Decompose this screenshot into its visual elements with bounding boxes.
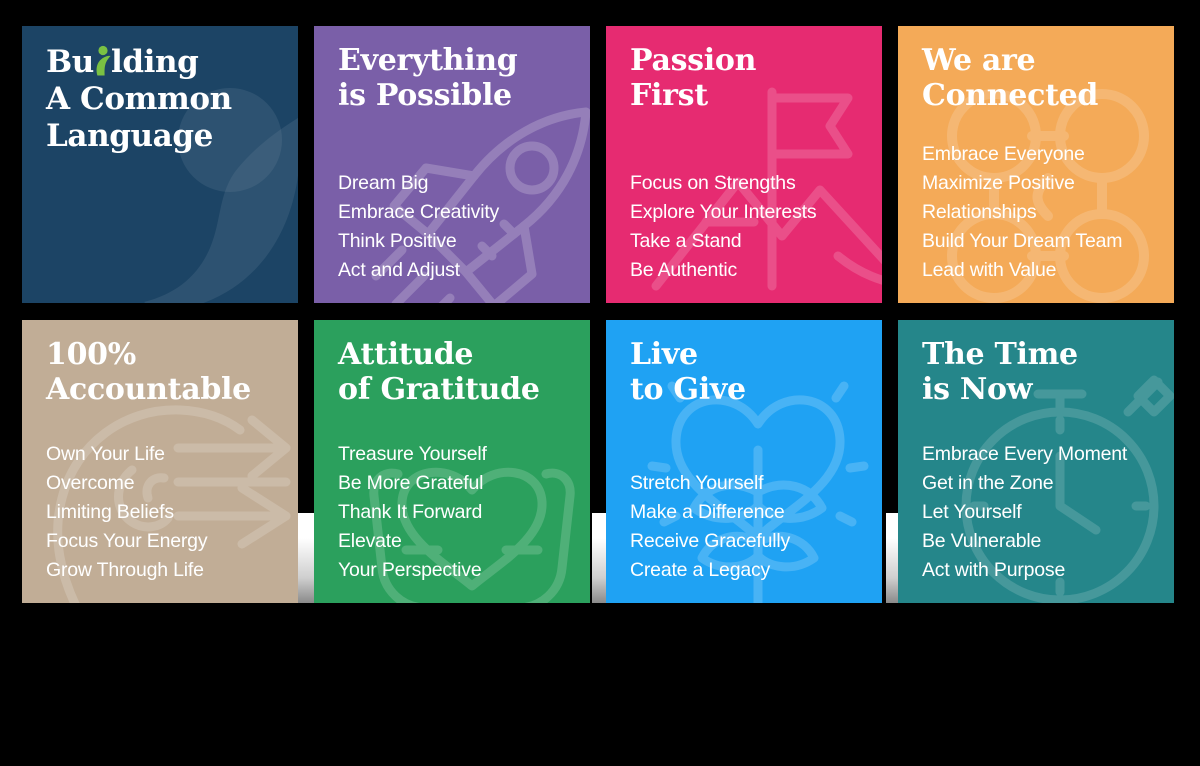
list-item: Own Your Life bbox=[46, 440, 278, 469]
brand-title-line-3: Language bbox=[46, 118, 278, 155]
card-value-list: Treasure Yourself Be More Grateful Thank… bbox=[338, 440, 570, 589]
list-item: Maximize Positive Relationships bbox=[922, 169, 1154, 227]
card-title: Attitude of Gratitude bbox=[338, 338, 570, 408]
gap-highlight-strip-1 bbox=[298, 513, 314, 603]
card-everything-is-possible[interactable]: Everything is Possible Dream Big Embrace… bbox=[314, 26, 590, 303]
brand-title-part-1: Bu bbox=[46, 44, 94, 80]
list-item: Act and Adjust bbox=[338, 256, 570, 285]
brand-title-line-2: A Common bbox=[46, 81, 278, 118]
list-item: Treasure Yourself bbox=[338, 440, 570, 469]
card-value-list: Focus on Strengths Explore Your Interest… bbox=[630, 169, 862, 289]
card-title: Passion First bbox=[630, 44, 862, 114]
card-title: 100% Accountable bbox=[46, 338, 278, 408]
card-title: We are Connected bbox=[922, 44, 1154, 114]
list-item: Create a Legacy bbox=[630, 556, 862, 585]
card-100-percent-accountable[interactable]: 100% Accountable Own Your Life Overcome … bbox=[22, 320, 298, 603]
list-item: Make a Difference bbox=[630, 498, 862, 527]
card-the-time-is-now[interactable]: The Time is Now Embrace Every Moment Get… bbox=[898, 320, 1174, 603]
card-title: Live to Give bbox=[630, 338, 862, 408]
card-attitude-of-gratitude[interactable]: Attitude of Gratitude Treasure Yourself … bbox=[314, 320, 590, 603]
list-item: Elevate Your Perspective bbox=[338, 527, 570, 585]
card-title: The Time is Now bbox=[922, 338, 1154, 408]
brand-title-line-1: Bu lding bbox=[46, 44, 278, 81]
list-item: Focus on Strengths bbox=[630, 169, 862, 198]
brand-title-part-2: lding bbox=[111, 44, 198, 80]
list-item: Overcome Limiting Beliefs bbox=[46, 469, 278, 527]
list-item: Let Yourself Be Vulnerable bbox=[922, 498, 1154, 556]
card-value-list: Own Your Life Overcome Limiting Beliefs … bbox=[46, 440, 278, 589]
brand-title: Bu lding A Common Language bbox=[46, 44, 278, 156]
list-item: Take a Stand bbox=[630, 227, 862, 256]
card-value-list: Dream Big Embrace Creativity Think Posit… bbox=[338, 169, 570, 289]
list-item: Grow Through Life bbox=[46, 556, 278, 585]
list-item: Lead with Value bbox=[922, 256, 1154, 285]
list-item: Be Authentic bbox=[630, 256, 862, 285]
list-item: Thank It Forward bbox=[338, 498, 570, 527]
card-value-list: Stretch Yourself Make a Difference Recei… bbox=[630, 469, 862, 589]
list-item: Think Positive bbox=[338, 227, 570, 256]
list-item: Focus Your Energy bbox=[46, 527, 278, 556]
list-item: Build Your Dream Team bbox=[922, 227, 1154, 256]
list-item: Be More Grateful bbox=[338, 469, 570, 498]
card-live-to-give[interactable]: Live to Give Stretch Yourself Make a Dif… bbox=[606, 320, 882, 603]
leaf-person-icon bbox=[94, 44, 111, 78]
list-item: Dream Big bbox=[338, 169, 570, 198]
card-building-a-common-language[interactable]: Bu lding A Common Language bbox=[22, 26, 298, 303]
list-item: Receive Gracefully bbox=[630, 527, 862, 556]
card-passion-first[interactable]: Passion First Focus on Strengths Explore… bbox=[606, 26, 882, 303]
list-item: Embrace Creativity bbox=[338, 198, 570, 227]
values-card-board: Bu lding A Common Language Everything is… bbox=[22, 26, 1178, 603]
card-value-list: Embrace Every Moment Get in the Zone Let… bbox=[922, 440, 1154, 589]
list-item: Get in the Zone bbox=[922, 469, 1154, 498]
list-item: Explore Your Interests bbox=[630, 198, 862, 227]
list-item: Embrace Every Moment bbox=[922, 440, 1154, 469]
card-value-list: Embrace Everyone Maximize Positive Relat… bbox=[922, 140, 1154, 289]
card-title: Everything is Possible bbox=[338, 44, 570, 114]
list-item: Stretch Yourself bbox=[630, 469, 862, 498]
card-we-are-connected[interactable]: We are Connected Embrace Everyone Maximi… bbox=[898, 26, 1174, 303]
list-item: Act with Purpose bbox=[922, 556, 1154, 585]
list-item: Embrace Everyone bbox=[922, 140, 1154, 169]
